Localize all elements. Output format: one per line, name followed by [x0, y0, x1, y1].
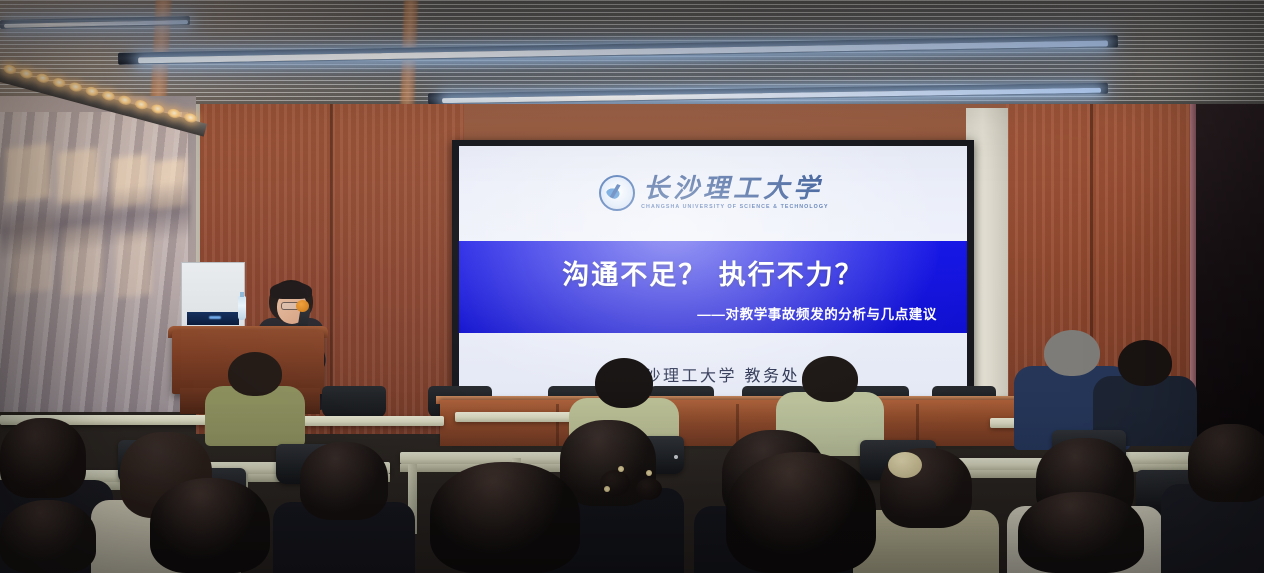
hair-pin — [618, 466, 624, 472]
slide-title: 沟通不足？ 执行不力？ — [459, 253, 967, 292]
attendee-head — [1188, 424, 1264, 502]
sunlight-patch — [6, 143, 50, 202]
doorway[interactable] — [1196, 104, 1264, 444]
logo-chinese-name: 长沙理工大学 — [643, 176, 823, 202]
downlight — [183, 112, 198, 124]
hair-bun — [636, 478, 662, 500]
projection-screen: 长沙理工大学 CHANGSHA UNIVERSITY OF SCIENCE & … — [459, 146, 967, 426]
downlight — [52, 77, 67, 89]
head-table-chair[interactable] — [322, 386, 386, 418]
attendee-head — [150, 478, 270, 573]
slide-organization: 长沙理工大学 教务处 — [459, 362, 967, 386]
desk — [400, 452, 570, 464]
attendee-head — [595, 358, 653, 408]
hair-bun — [600, 470, 630, 496]
lecture-hall-photo: 长沙理工大学 CHANGSHA UNIVERSITY OF SCIENCE & … — [0, 0, 1264, 573]
attendee-head — [430, 462, 580, 573]
water-bottle — [238, 296, 246, 320]
slide-logo: 长沙理工大学 CHANGSHA UNIVERSITY OF SCIENCE & … — [459, 164, 967, 222]
attendee-head — [1044, 330, 1100, 376]
attendee-head — [300, 442, 388, 520]
downlight — [134, 99, 149, 111]
hair-pin — [646, 470, 652, 476]
downlight — [167, 108, 182, 120]
chair-screw — [674, 455, 678, 459]
university-crest-icon — [599, 175, 635, 211]
hair-pin — [604, 486, 610, 492]
downlight — [35, 72, 50, 84]
attendee-head — [1018, 492, 1144, 573]
downlight — [2, 64, 17, 76]
downlight — [117, 94, 132, 106]
downlight — [101, 90, 116, 102]
table-seam — [556, 404, 559, 446]
presenter-bangs — [270, 282, 312, 299]
equipment-indicator-light — [209, 316, 221, 319]
logo-english-name: CHANGSHA UNIVERSITY OF SCIENCE & TECHNOL… — [641, 205, 828, 210]
logo-text-block: 长沙理工大学 CHANGSHA UNIVERSITY OF SCIENCE & … — [643, 176, 827, 210]
attendee-head — [0, 418, 86, 498]
attendee-head — [1118, 340, 1172, 386]
attendee-head — [802, 356, 858, 402]
slide-subtitle: ——对教学事故频发的分析与几点建议 — [459, 303, 967, 323]
downlight — [85, 86, 100, 98]
microphone-windscreen — [296, 300, 309, 312]
downlight — [68, 81, 83, 93]
attendee-head — [0, 500, 96, 573]
downlight — [150, 103, 165, 115]
slide-title-band: 沟通不足？ 执行不力？ ——对教学事故频发的分析与几点建议 — [459, 241, 967, 333]
attendee-head — [726, 452, 876, 573]
downlight — [19, 68, 34, 80]
hair-scrunchie — [888, 452, 922, 478]
attendee-head — [228, 352, 282, 396]
